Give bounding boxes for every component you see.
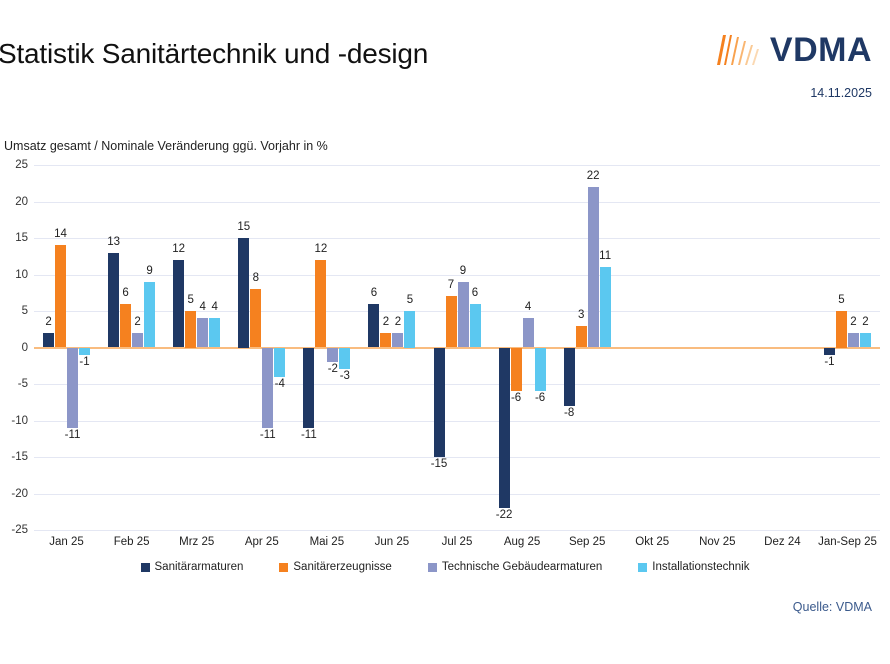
bar[interactable] bbox=[523, 318, 534, 347]
bar-slot: -11 bbox=[262, 165, 273, 530]
y-axis-tick-label: -5 bbox=[18, 378, 28, 390]
bar-group-bars: 13629 bbox=[99, 165, 164, 530]
y-axis-tick-label: 0 bbox=[22, 342, 28, 354]
x-axis-tick-label: Feb 25 bbox=[99, 536, 164, 548]
vdma-bars-icon bbox=[715, 33, 761, 67]
bar[interactable] bbox=[380, 333, 391, 348]
source-note: Quelle: VDMA bbox=[793, 600, 872, 614]
bar-value-label: 11 bbox=[599, 250, 611, 262]
bar-slot: 7 bbox=[446, 165, 457, 530]
chart-subtitle: Umsatz gesamt / Nominale Veränderung ggü… bbox=[4, 139, 328, 153]
bar[interactable] bbox=[499, 348, 510, 509]
bar[interactable] bbox=[274, 348, 285, 377]
bar[interactable] bbox=[860, 333, 871, 348]
bar-slot bbox=[665, 165, 676, 530]
bar-slot: 2 bbox=[848, 165, 859, 530]
page-title: Statistik Sanitärtechnik und -design bbox=[0, 38, 428, 70]
bar[interactable] bbox=[564, 348, 575, 406]
bar[interactable] bbox=[120, 304, 131, 348]
bar-slot bbox=[795, 165, 806, 530]
bar-value-label: 5 bbox=[407, 294, 413, 306]
bar-slot bbox=[730, 165, 741, 530]
bar[interactable] bbox=[250, 289, 261, 347]
bar-group: 12544Mrz 25 bbox=[164, 165, 229, 530]
bar-slot: 3 bbox=[576, 165, 587, 530]
bar-value-label: -1 bbox=[824, 356, 834, 368]
y-axis-tick-label: -20 bbox=[11, 488, 28, 500]
bar-slot: 4 bbox=[197, 165, 208, 530]
bar[interactable] bbox=[55, 245, 66, 347]
bar-group-bars: -15796 bbox=[424, 165, 489, 530]
legend-swatch-icon bbox=[638, 563, 647, 572]
bar[interactable] bbox=[67, 348, 78, 428]
bar-group: Okt 25 bbox=[620, 165, 685, 530]
legend-item[interactable]: Technische Gebäudearmaturen bbox=[428, 561, 602, 573]
bar-value-label: 2 bbox=[45, 316, 51, 328]
bar-group: 214-11-1Jan 25 bbox=[34, 165, 99, 530]
bar[interactable] bbox=[511, 348, 522, 392]
bar-group: -22-64-6Aug 25 bbox=[490, 165, 555, 530]
x-axis-tick-label: Sep 25 bbox=[555, 536, 620, 548]
legend-item[interactable]: Sanitärarmaturen bbox=[141, 561, 244, 573]
bar[interactable] bbox=[79, 348, 90, 355]
bar-slot: 2 bbox=[132, 165, 143, 530]
bar-chart: 2520151050-5-10-15-20-25 214-11-1Jan 251… bbox=[0, 155, 890, 555]
bar-slot: 2 bbox=[43, 165, 54, 530]
legend-swatch-icon bbox=[141, 563, 150, 572]
legend-item[interactable]: Sanitärerzeugnisse bbox=[279, 561, 391, 573]
bar[interactable] bbox=[848, 333, 859, 348]
bar-slot: 2 bbox=[380, 165, 391, 530]
bar[interactable] bbox=[315, 260, 326, 348]
chart-legend: SanitärarmaturenSanitärerzeugnisseTechni… bbox=[0, 561, 890, 573]
bar-slot: -11 bbox=[303, 165, 314, 530]
bar-slot: 8 bbox=[250, 165, 261, 530]
bar-slot: -3 bbox=[339, 165, 350, 530]
y-axis-tick-label: 10 bbox=[15, 269, 28, 281]
bar-value-label: 9 bbox=[460, 265, 466, 277]
bar[interactable] bbox=[209, 318, 220, 347]
page-header: Statistik Sanitärtechnik und -design VDM… bbox=[0, 0, 890, 120]
x-axis-tick-label: Jun 25 bbox=[359, 536, 424, 548]
bar-group: Nov 25 bbox=[685, 165, 750, 530]
bar-slot: 22 bbox=[588, 165, 599, 530]
bar-value-label: 3 bbox=[578, 309, 584, 321]
gridline bbox=[34, 530, 880, 531]
x-axis-tick-label: Dez 24 bbox=[750, 536, 815, 548]
bar-group-bars bbox=[620, 165, 685, 530]
bar-slot: -1 bbox=[824, 165, 835, 530]
bar-slot: 12 bbox=[315, 165, 326, 530]
bar-slot: 12 bbox=[173, 165, 184, 530]
bar-slot: -8 bbox=[564, 165, 575, 530]
bar[interactable] bbox=[600, 267, 611, 347]
bar-value-label: 9 bbox=[146, 265, 152, 277]
bar-group: -832211Sep 25 bbox=[555, 165, 620, 530]
y-axis-tick-label: -15 bbox=[11, 451, 28, 463]
bar[interactable] bbox=[458, 282, 469, 348]
bar[interactable] bbox=[392, 333, 403, 348]
bar-value-label: -6 bbox=[535, 392, 545, 404]
bar-slot: 5 bbox=[836, 165, 847, 530]
bar-slot: 4 bbox=[209, 165, 220, 530]
bar-value-label: 4 bbox=[199, 301, 205, 313]
bar-value-label: 15 bbox=[237, 221, 250, 233]
bar-value-label: -8 bbox=[564, 407, 574, 419]
bar-slot: 11 bbox=[600, 165, 611, 530]
bar-slot: 6 bbox=[120, 165, 131, 530]
x-axis-tick-label: Jan 25 bbox=[34, 536, 99, 548]
bar-group-bars bbox=[685, 165, 750, 530]
bar-slot: 2 bbox=[392, 165, 403, 530]
bar-value-label: 4 bbox=[525, 301, 531, 313]
bar-value-label: 4 bbox=[211, 301, 217, 313]
vdma-logo: VDMA bbox=[715, 33, 872, 67]
bar[interactable] bbox=[535, 348, 546, 392]
bar-value-label: -1 bbox=[79, 356, 89, 368]
bar-value-label: 6 bbox=[371, 287, 377, 299]
y-axis-tick-label: 20 bbox=[15, 196, 28, 208]
bar-group-bars: -832211 bbox=[555, 165, 620, 530]
bar-group: 13629Feb 25 bbox=[99, 165, 164, 530]
bar-value-label: 12 bbox=[314, 243, 327, 255]
bar[interactable] bbox=[470, 304, 481, 348]
bar-slot: -22 bbox=[499, 165, 510, 530]
bar-slot: 14 bbox=[55, 165, 66, 530]
bar-slot: 6 bbox=[470, 165, 481, 530]
bar[interactable] bbox=[303, 348, 314, 428]
bar-group-bars: 214-11-1 bbox=[34, 165, 99, 530]
bar-slot bbox=[653, 165, 664, 530]
legend-swatch-icon bbox=[428, 563, 437, 572]
bar-value-label: 5 bbox=[838, 294, 844, 306]
bar-value-label: 14 bbox=[54, 228, 67, 240]
bar[interactable] bbox=[108, 253, 119, 348]
x-axis-tick-label: Jul 25 bbox=[424, 536, 489, 548]
x-axis-tick-label: Jan-Sep 25 bbox=[815, 536, 880, 548]
vdma-wordmark: VDMA bbox=[770, 33, 872, 67]
bar[interactable] bbox=[824, 348, 835, 355]
bar-value-label: 5 bbox=[187, 294, 193, 306]
bar-group-bars bbox=[750, 165, 815, 530]
x-axis-tick-label: Mai 25 bbox=[294, 536, 359, 548]
bar-slot bbox=[771, 165, 782, 530]
bar-slot: 9 bbox=[144, 165, 155, 530]
bar-value-label: 6 bbox=[472, 287, 478, 299]
bar-value-label: 2 bbox=[850, 316, 856, 328]
bar-value-label: 2 bbox=[383, 316, 389, 328]
bar[interactable] bbox=[836, 311, 847, 348]
bar-group: -15796Jul 25 bbox=[424, 165, 489, 530]
bar-group-bars: 12544 bbox=[164, 165, 229, 530]
bar[interactable] bbox=[132, 333, 143, 348]
bar-slot: 5 bbox=[185, 165, 196, 530]
bar-slot: 13 bbox=[108, 165, 119, 530]
x-axis-tick-label: Apr 25 bbox=[229, 536, 294, 548]
plot-area: 2520151050-5-10-15-20-25 214-11-1Jan 251… bbox=[34, 165, 880, 530]
bar-slot: 2 bbox=[860, 165, 871, 530]
bar-group: -1522Jan-Sep 25 bbox=[815, 165, 880, 530]
legend-item[interactable]: Installationstechnik bbox=[638, 561, 749, 573]
bar-slot bbox=[641, 165, 652, 530]
legend-label: Sanitärarmaturen bbox=[155, 561, 244, 573]
y-axis-tick-label: -10 bbox=[11, 415, 28, 427]
bar-slot: -15 bbox=[434, 165, 445, 530]
bar-group: -1112-2-3Mai 25 bbox=[294, 165, 359, 530]
bar[interactable] bbox=[197, 318, 208, 347]
bar-value-label: -2 bbox=[328, 363, 338, 375]
bar-value-label: -4 bbox=[275, 378, 285, 390]
bar-group-bars: -22-64-6 bbox=[490, 165, 555, 530]
x-axis-tick-label: Nov 25 bbox=[685, 536, 750, 548]
bar[interactable] bbox=[327, 348, 338, 363]
x-axis-tick-label: Mrz 25 bbox=[164, 536, 229, 548]
bar-groups: 214-11-1Jan 2513629Feb 2512544Mrz 25158-… bbox=[34, 165, 880, 530]
bar[interactable] bbox=[43, 333, 54, 348]
bar[interactable] bbox=[262, 348, 273, 428]
bar-slot bbox=[694, 165, 705, 530]
bar[interactable] bbox=[144, 282, 155, 348]
bar-slot: -6 bbox=[535, 165, 546, 530]
bar-value-label: 22 bbox=[587, 170, 600, 182]
bar-slot: -6 bbox=[511, 165, 522, 530]
legend-swatch-icon bbox=[279, 563, 288, 572]
bar-group: Dez 24 bbox=[750, 165, 815, 530]
x-axis-tick-label: Aug 25 bbox=[490, 536, 555, 548]
bar[interactable] bbox=[173, 260, 184, 348]
bar-slot bbox=[783, 165, 794, 530]
x-axis-tick-label: Okt 25 bbox=[620, 536, 685, 548]
bar-slot bbox=[706, 165, 717, 530]
bar-group-bars: 158-11-4 bbox=[229, 165, 294, 530]
bar[interactable] bbox=[339, 348, 350, 370]
legend-label: Sanitärerzeugnisse bbox=[293, 561, 391, 573]
bar-group: 6225Jun 25 bbox=[359, 165, 424, 530]
bar-slot bbox=[759, 165, 770, 530]
bar[interactable] bbox=[588, 187, 599, 348]
bar-value-label: 2 bbox=[134, 316, 140, 328]
bar[interactable] bbox=[185, 311, 196, 348]
bar-slot: -2 bbox=[327, 165, 338, 530]
bar-slot bbox=[718, 165, 729, 530]
bar[interactable] bbox=[576, 326, 587, 348]
bar-value-label: 2 bbox=[862, 316, 868, 328]
bar-slot: -11 bbox=[67, 165, 78, 530]
bar[interactable] bbox=[238, 238, 249, 348]
bar[interactable] bbox=[404, 311, 415, 348]
document-date: 14.11.2025 bbox=[810, 86, 872, 100]
legend-label: Technische Gebäudearmaturen bbox=[442, 561, 602, 573]
bar-group-bars: 6225 bbox=[359, 165, 424, 530]
bar-slot: -4 bbox=[274, 165, 285, 530]
bar-value-label: -3 bbox=[340, 370, 350, 382]
bar-group: 158-11-4Apr 25 bbox=[229, 165, 294, 530]
bar[interactable] bbox=[446, 296, 457, 347]
bar-value-label: 2 bbox=[395, 316, 401, 328]
bar-group-bars: -1112-2-3 bbox=[294, 165, 359, 530]
bar-slot: 4 bbox=[523, 165, 534, 530]
bar-slot: 5 bbox=[404, 165, 415, 530]
bar-value-label: 13 bbox=[107, 236, 120, 248]
legend-label: Installationstechnik bbox=[652, 561, 749, 573]
bar-value-label: 12 bbox=[172, 243, 185, 255]
y-axis-tick-label: -25 bbox=[11, 524, 28, 536]
bar-slot: 9 bbox=[458, 165, 469, 530]
bar[interactable] bbox=[434, 348, 445, 458]
y-axis-tick-label: 15 bbox=[15, 232, 28, 244]
bar[interactable] bbox=[368, 304, 379, 348]
bar-slot: 15 bbox=[238, 165, 249, 530]
bar-slot: -1 bbox=[79, 165, 90, 530]
y-axis-tick-label: 25 bbox=[15, 159, 28, 171]
bar-slot: 6 bbox=[368, 165, 379, 530]
y-axis-tick-label: 5 bbox=[22, 305, 28, 317]
bar-value-label: 7 bbox=[448, 279, 454, 291]
bar-group-bars: -1522 bbox=[815, 165, 880, 530]
bar-slot bbox=[629, 165, 640, 530]
bar-value-label: 6 bbox=[122, 287, 128, 299]
bar-value-label: -6 bbox=[511, 392, 521, 404]
bar-value-label: 8 bbox=[253, 272, 259, 284]
